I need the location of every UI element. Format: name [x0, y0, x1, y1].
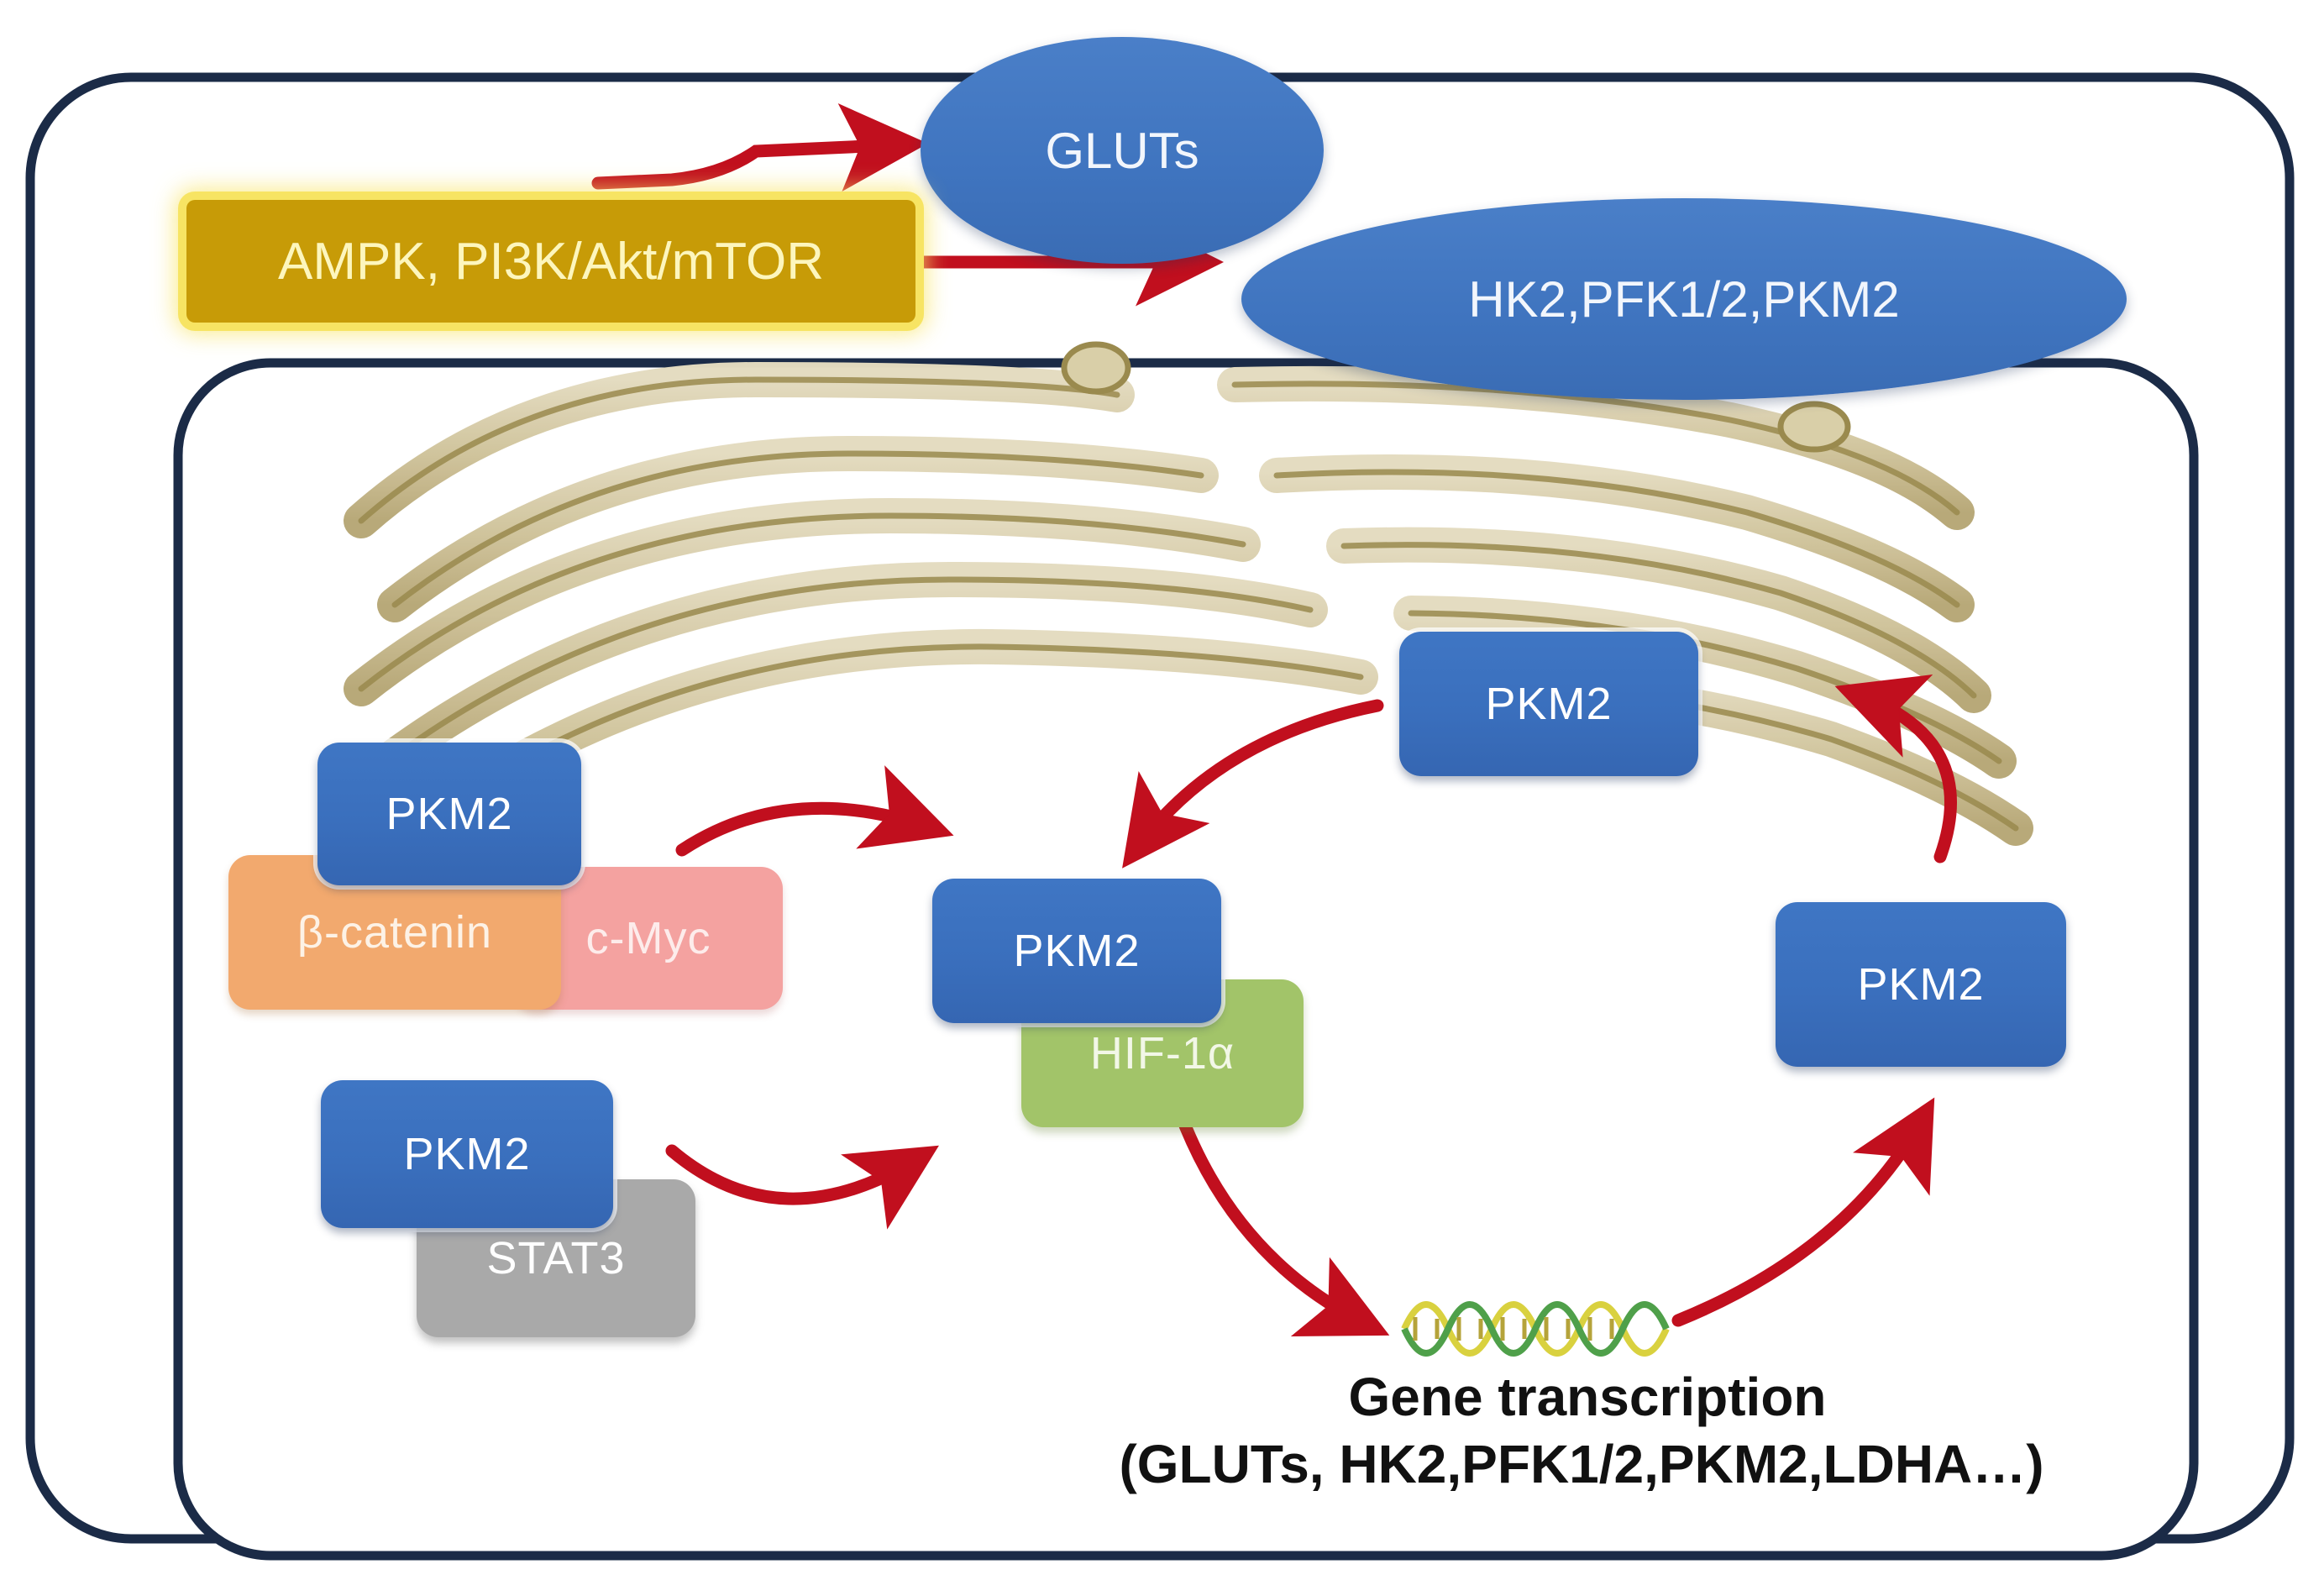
pkm2-right-box[interactable]: PKM2 — [1776, 902, 2066, 1067]
pathway-diagram: GLUTs HK2,PFK1/2,PKM2 AMPK, PI3K/Akt/mTO… — [0, 0, 2324, 1580]
kinase-box[interactable]: AMPK, PI3K/Akt/mTOR — [186, 200, 915, 323]
kinase-label: AMPK, PI3K/Akt/mTOR — [278, 232, 824, 291]
pkm2-top-box[interactable]: PKM2 — [1399, 632, 1698, 776]
pkm2-hif-label: PKM2 — [1013, 925, 1140, 977]
pkm2-hif-box[interactable]: PKM2 — [932, 879, 1221, 1023]
enzymes-label: HK2,PFK1/2,PKM2 — [1468, 270, 1900, 328]
pkm2-top-label: PKM2 — [1485, 678, 1612, 730]
pkm2-bcatenin-box[interactable]: PKM2 — [317, 743, 581, 885]
glut-ellipse[interactable]: GLUTs — [921, 37, 1324, 264]
stat3-label: STAT3 — [486, 1232, 625, 1284]
c-myc-label: c-Myc — [586, 912, 711, 964]
beta-catenin-label: β-catenin — [297, 906, 492, 958]
pkm2-right-label: PKM2 — [1857, 958, 1984, 1010]
hif1a-label: HIF-1α — [1090, 1027, 1235, 1079]
enzymes-ellipse[interactable]: HK2,PFK1/2,PKM2 — [1241, 198, 2127, 400]
pkm2-stat3-label: PKM2 — [403, 1128, 530, 1180]
pkm2-stat3-box[interactable]: PKM2 — [321, 1080, 613, 1228]
pkm2-bcatenin-label: PKM2 — [386, 788, 512, 840]
glut-label: GLUTs — [1045, 122, 1199, 180]
gene-transcription-targets: (GLUTs, HK2,PFK1/2,PKM2,LDHA…) — [1023, 1433, 2140, 1497]
gene-transcription-title: Gene transcription — [1167, 1367, 2007, 1428]
